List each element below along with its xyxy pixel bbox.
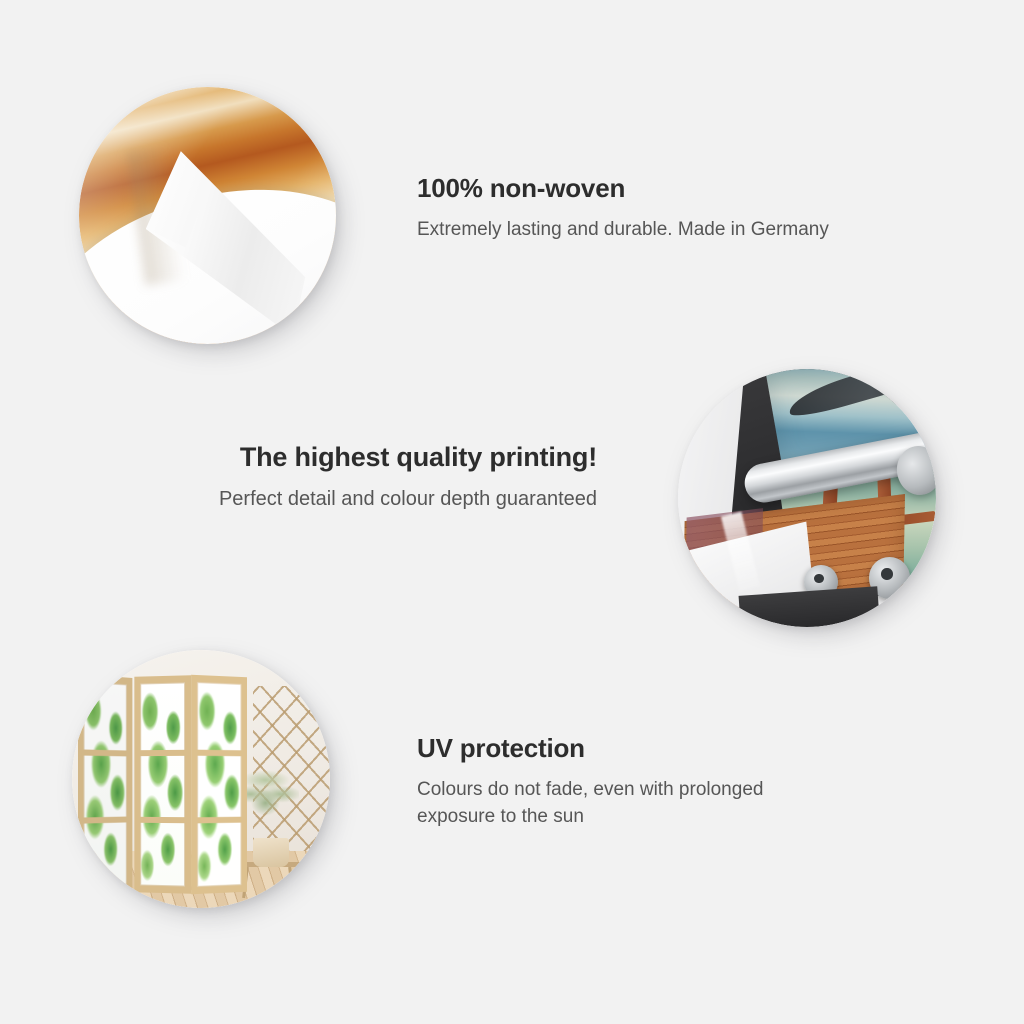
feature-title-non-woven: 100% non-woven	[417, 173, 857, 204]
feature-info-graphic: 100% non-woven Extremely lasting and dur…	[0, 0, 1024, 1024]
divider-panel-1	[78, 674, 133, 895]
feature-description-printing: Perfect detail and colour depth guarante…	[160, 485, 597, 513]
room-divider-photo	[72, 650, 330, 908]
feature-text-non-woven: 100% non-woven Extremely lasting and dur…	[417, 173, 857, 244]
wallpaper-peel-photo	[79, 87, 336, 344]
feature-text-printing: The highest quality printing! Perfect de…	[160, 441, 597, 514]
feature-text-uv-protection: UV protection Colours do not fade, even …	[417, 733, 837, 831]
feature-image-printing	[678, 369, 936, 627]
feature-image-non-woven	[79, 87, 336, 344]
printing-machine-photo	[678, 369, 936, 627]
feature-title-printing: The highest quality printing!	[160, 441, 597, 473]
feature-title-uv-protection: UV protection	[417, 733, 837, 764]
feature-image-uv-protection	[72, 650, 330, 908]
divider-panel-3	[191, 675, 247, 894]
feature-description-non-woven: Extremely lasting and durable. Made in G…	[417, 217, 857, 244]
feature-description-uv-protection: Colours do not fade, even with prolonged…	[417, 777, 837, 831]
folding-room-divider	[77, 676, 247, 893]
divider-panel-2	[134, 675, 190, 893]
